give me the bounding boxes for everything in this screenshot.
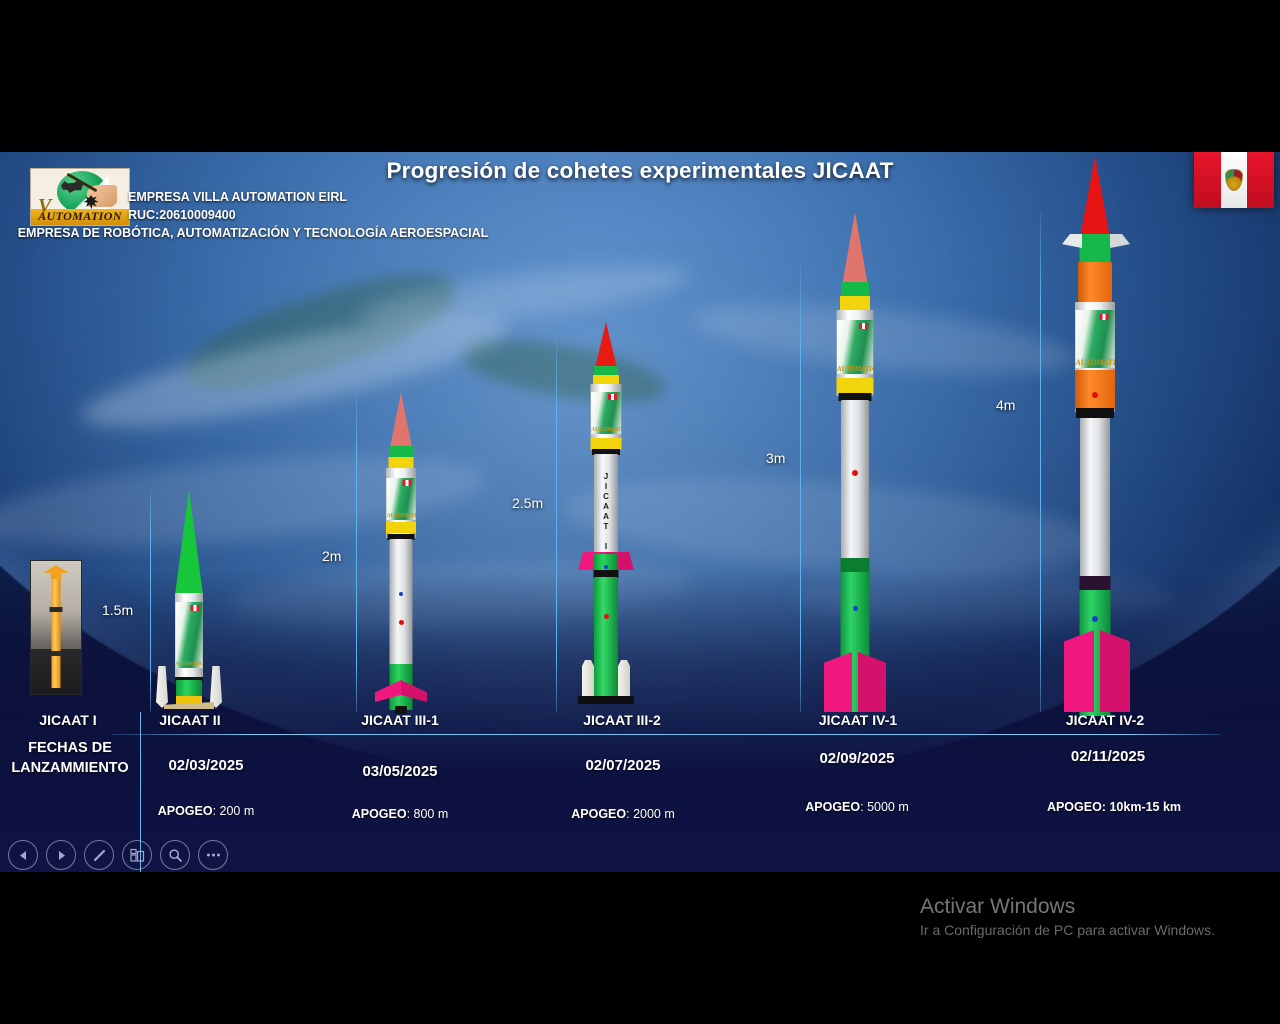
previous-arrow-icon — [18, 850, 29, 861]
windows-activation-watermark: Activar Windows Ir a Configuración de PC… — [920, 893, 1215, 940]
apogee-jicaat-3-1: APOGEO: 800 m — [340, 807, 460, 821]
band-yellow — [837, 378, 874, 394]
rocket-jicaat-3-2: AUTOMATION JICAAT III — [556, 322, 656, 712]
decal-brand-text: AUTOMATION — [837, 365, 873, 373]
band-yellow — [386, 522, 416, 533]
column-name-jicaat-4-2: JICAAT IV-2 — [1042, 712, 1168, 728]
apogee-value: 2000 m — [633, 807, 675, 821]
band-green — [389, 446, 413, 457]
launch-date-jicaat-4-2: 02/11/2025 — [1046, 748, 1170, 765]
band-yellow — [176, 696, 202, 704]
pen-icon — [92, 848, 107, 863]
band-green — [1080, 234, 1111, 264]
rocket-photo-jicaat-1 — [30, 560, 82, 695]
column-name-jicaat-4-1: JICAAT IV-1 — [795, 712, 921, 728]
canard-right — [1110, 234, 1130, 248]
band-yellow — [389, 457, 414, 468]
indicator-dot-blue — [399, 592, 403, 596]
decal-flag-icon — [403, 480, 412, 486]
body-tube — [841, 400, 869, 560]
table-divider-horizontal — [112, 734, 1220, 735]
orange-section-lower — [1075, 370, 1115, 410]
decal-flag-icon — [859, 323, 868, 329]
nose-cone — [390, 392, 412, 448]
decal-brand-text: AUTOMATION — [1076, 358, 1115, 367]
band-yellow — [840, 296, 870, 310]
fin-right — [858, 652, 886, 712]
nose-cone — [595, 322, 617, 368]
apogee-value: 800 m — [414, 807, 449, 821]
apogee-jicaat-2: APOGEO: 200 m — [146, 804, 266, 818]
row-label-line-2: LANZAMMIENTO — [0, 758, 140, 778]
more-options-button[interactable] — [198, 840, 228, 870]
launch-rail — [578, 696, 634, 704]
fin-right — [210, 666, 222, 708]
apogee-jicaat-4-1: APOGEO: 5000 m — [795, 800, 919, 814]
watermark-subtitle: Ir a Configuración de PC para activar Wi… — [920, 920, 1215, 940]
decal-brand-text: AUTOMATION — [387, 513, 416, 519]
logo-decal: AUTOMATION — [1076, 310, 1115, 368]
fin-left — [824, 652, 852, 712]
indicator-dot-red — [852, 470, 858, 476]
measure-label-2: 2m — [322, 548, 341, 564]
band-yellow — [593, 375, 619, 384]
booster-stage — [594, 577, 618, 697]
decal-flag-icon — [191, 605, 200, 611]
screen: Progresión de cohetes experimentales JIC… — [0, 0, 1280, 1024]
flag-band-white — [1221, 152, 1248, 208]
measure-label-4: 3m — [766, 450, 785, 466]
row-label-line-1: FECHAS DE — [0, 738, 140, 758]
flag-band-red-left — [1194, 152, 1221, 208]
canard-left — [1062, 234, 1082, 248]
apogee-value: 5000 m — [867, 800, 909, 814]
apogee-value: 200 m — [220, 804, 255, 818]
nose-cone — [1080, 156, 1110, 238]
apogee-label: APOGEO — [352, 807, 407, 821]
band-green — [841, 282, 869, 296]
next-arrow-icon — [56, 850, 67, 861]
zoom-tool-button[interactable] — [160, 840, 190, 870]
peru-flag-icon — [1194, 152, 1274, 208]
photo-rocket-fins — [43, 565, 69, 579]
measure-label-5: 4m — [996, 397, 1015, 413]
decal-brand-text: AUTOMATION — [176, 662, 203, 667]
column-name-jicaat-2: JICAAT II — [130, 712, 250, 728]
orange-section — [1078, 262, 1112, 302]
indicator-dot-red — [399, 620, 404, 625]
logo-decal: AUTOMATION — [387, 478, 416, 520]
apogee-label: APOGEO — [158, 804, 213, 818]
column-name-jicaat-1: JICAAT I — [0, 712, 136, 728]
company-info: EMPRESA VILLA AUTOMATION EIRL RUC:206100… — [0, 188, 506, 242]
measure-label-3: 2.5m — [512, 495, 543, 511]
fin-right — [1100, 630, 1130, 712]
measure-label-1: 1.5m — [102, 602, 133, 618]
row-label-launch-dates: FECHAS DE LANZAMMIENTO — [0, 738, 140, 778]
launch-date-jicaat-2: 02/03/2025 — [146, 757, 266, 774]
apogee-label: APOGEO — [571, 807, 626, 821]
next-slide-button[interactable] — [46, 840, 76, 870]
apogee-jicaat-4-2: APOGEO: 10km-15 km — [1046, 800, 1182, 814]
indicator-dot-blue — [1092, 616, 1098, 622]
logo-decal: AUTOMATION — [176, 602, 203, 668]
pen-tool-button[interactable] — [84, 840, 114, 870]
indicator-dot-red — [1092, 392, 1098, 398]
slideshow-toolbar[interactable] — [8, 840, 228, 870]
photo-rocket-band — [50, 651, 63, 656]
decal-flag-icon — [608, 394, 617, 400]
company-ruc: RUC:20610009400 — [0, 206, 506, 224]
launch-date-jicaat-3-1: 03/05/2025 — [340, 763, 460, 780]
company-tagline: EMPRESA DE ROBÓTICA, AUTOMATIZACIÓN Y TE… — [0, 224, 506, 242]
apogee-label: APOGEO: — [1047, 800, 1106, 814]
rocket-jicaat-4-2: AUTOMATION — [1040, 156, 1150, 712]
apogee-sep: : — [213, 804, 220, 818]
rocket-jicaat-4-1: AUTOMATION — [800, 212, 910, 712]
company-name: EMPRESA VILLA AUTOMATION EIRL — [0, 188, 506, 206]
apogee-label: APOGEO — [805, 800, 860, 814]
fin-left — [1064, 630, 1094, 712]
logo-decal: AUTOMATION — [837, 320, 873, 374]
ellipsis-icon — [206, 852, 221, 858]
flag-band-red-right — [1247, 152, 1274, 208]
rocket-jicaat-3-1: AUTOMATION — [356, 392, 446, 712]
previous-slide-button[interactable] — [8, 840, 38, 870]
rocket-jicaat-2: AUTOMATION — [150, 490, 228, 712]
logo-decal: AUTOMATION — [591, 392, 621, 434]
decal-flag-icon — [1100, 314, 1109, 320]
apogee-sep: : — [407, 807, 414, 821]
search-icon — [168, 848, 183, 863]
decal-brand-text: AUTOMATION — [591, 427, 621, 433]
slides-grid-icon — [130, 848, 145, 863]
photo-rocket-band — [50, 607, 63, 612]
launch-date-jicaat-3-2: 02/07/2025 — [563, 757, 683, 774]
column-name-jicaat-3-1: JICAAT III-1 — [340, 712, 460, 728]
apogee-value: 10km-15 km — [1109, 800, 1181, 814]
indicator-dot-blue — [604, 565, 608, 569]
band-black — [1076, 408, 1114, 418]
body-tube — [1080, 418, 1110, 578]
watermark-title: Activar Windows — [920, 893, 1215, 920]
launch-date-jicaat-4-1: 02/09/2025 — [795, 750, 919, 767]
fin-left — [156, 666, 168, 708]
indicator-dot-red — [604, 614, 609, 619]
body-tube — [390, 539, 413, 666]
nose-cone — [175, 490, 203, 595]
peru-coat-of-arms-icon — [1225, 169, 1243, 191]
nose-cone — [842, 212, 868, 286]
indicator-dot-blue — [853, 606, 858, 611]
band-green — [594, 366, 618, 375]
band-yellow — [591, 438, 622, 449]
presentation-slide[interactable]: Progresión de cohetes experimentales JIC… — [0, 152, 1280, 872]
column-name-jicaat-3-2: JICAAT III-2 — [562, 712, 682, 728]
all-slides-button[interactable] — [122, 840, 152, 870]
photo-rocket-body — [52, 569, 61, 688]
apogee-jicaat-3-2: APOGEO: 2000 m — [563, 807, 683, 821]
